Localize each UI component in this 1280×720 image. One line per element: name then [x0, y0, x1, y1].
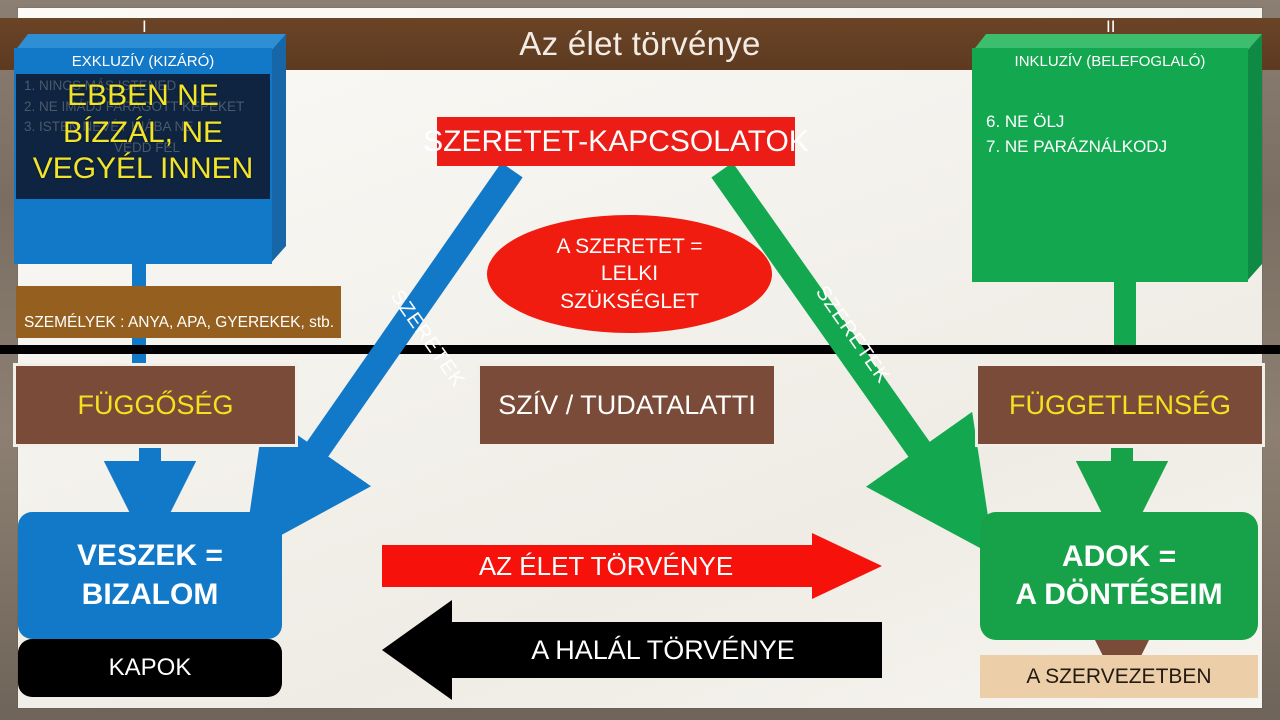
organism-label: A SZERVEZETBEN: [1026, 665, 1211, 689]
persons-bar: SZEMÉLYEK : ANYA, APA, GYEREKEK, stb.: [16, 286, 341, 338]
inclusive-commandment-list: 6. NE ÖLJ 7. NE PARÁZNÁLKODJ: [986, 110, 1236, 159]
take-line: VESZEK =: [77, 537, 223, 575]
overlay-line: BÍZZÁL, NE: [14, 115, 272, 152]
receive-label: KAPOK: [109, 654, 192, 682]
inclusive-box-header: INKLUZÍV (BELEFOGLALÓ): [972, 48, 1248, 74]
love-relations-header[interactable]: SZERETET-KAPCSOLATOK: [437, 117, 795, 166]
love-relations-label: SZERETET-KAPCSOLATOK: [423, 125, 809, 159]
ellipse-line: A SZERETET =: [556, 233, 702, 260]
take-line: BIZALOM: [82, 576, 219, 614]
bottom-right-organism-box[interactable]: A SZERVEZETBEN: [980, 655, 1258, 698]
overlay-line: VEGYÉL INNEN: [14, 151, 272, 188]
bottom-right-give-box[interactable]: ADOK = A DÖNTÉSEIM: [980, 512, 1258, 640]
exclusive-overlay-text: EBBEN NE BÍZZÁL, NE VEGYÉL INNEN: [14, 78, 272, 188]
arrow-law-of-life-label: AZ ÉLET TÖRVÉNYE: [479, 551, 785, 582]
list-item: 7. NE PARÁZNÁLKODJ: [986, 135, 1236, 160]
horizontal-divider: [0, 345, 1280, 354]
ellipse-line: LELKI: [601, 260, 658, 287]
bottom-left-receive-box[interactable]: KAPOK: [18, 639, 282, 697]
give-line: A DÖNTÉSEIM: [1015, 576, 1222, 614]
bottom-left-take-box[interactable]: VESZEK = BIZALOM: [18, 512, 282, 639]
give-line: ADOK =: [1062, 538, 1176, 576]
exclusive-box-front-face: EXKLUZÍV (KIZÁRÓ) 1. NINCS MÁS ISTENED 2…: [14, 48, 272, 264]
roman-numeral-one: I: [142, 18, 147, 35]
persons-bar-label: SZEMÉLYEK : ANYA, APA, GYEREKEK, stb.: [16, 314, 334, 338]
roman-numeral-two: II: [1106, 18, 1115, 35]
connector-blue-vertical-top: [132, 258, 146, 288]
arrow-law-of-death-label: A HALÁL TÖRVÉNYE: [469, 635, 795, 666]
slide-canvas: Az élet törvénye I II EXKLUZÍV (KIZÁRÓ) …: [0, 0, 1280, 720]
ellipse-line: SZÜKSÉGLET: [560, 288, 699, 315]
inclusive-box-front-face: INKLUZÍV (BELEFOGLALÓ) 6. NE ÖLJ 7. NE P…: [972, 48, 1248, 282]
middle-box-independence-label: FÜGGETLENSÉG: [1009, 390, 1231, 421]
middle-box-heart-label: SZÍV / TUDATALATTI: [498, 390, 756, 421]
exclusive-box[interactable]: EXKLUZÍV (KIZÁRÓ) 1. NINCS MÁS ISTENED 2…: [14, 34, 286, 264]
exclusive-box-header: EXKLUZÍV (KIZÁRÓ): [14, 48, 272, 74]
middle-box-independence[interactable]: FÜGGETLENSÉG: [978, 366, 1262, 444]
middle-box-dependency-label: FÜGGŐSÉG: [77, 390, 233, 421]
middle-box-heart[interactable]: SZÍV / TUDATALATTI: [480, 366, 774, 444]
connector-green-vertical-top: [1114, 276, 1136, 354]
exclusive-box-side-face: [270, 34, 286, 264]
inclusive-box[interactable]: INKLUZÍV (BELEFOGLALÓ) 6. NE ÖLJ 7. NE P…: [972, 34, 1262, 282]
love-definition-ellipse: A SZERETET = LELKI SZÜKSÉGLET: [487, 215, 772, 333]
list-item: 6. NE ÖLJ: [986, 110, 1236, 135]
inclusive-box-side-face: [1246, 34, 1262, 282]
overlay-line: EBBEN NE: [14, 78, 272, 115]
middle-box-dependency[interactable]: FÜGGŐSÉG: [16, 366, 295, 444]
